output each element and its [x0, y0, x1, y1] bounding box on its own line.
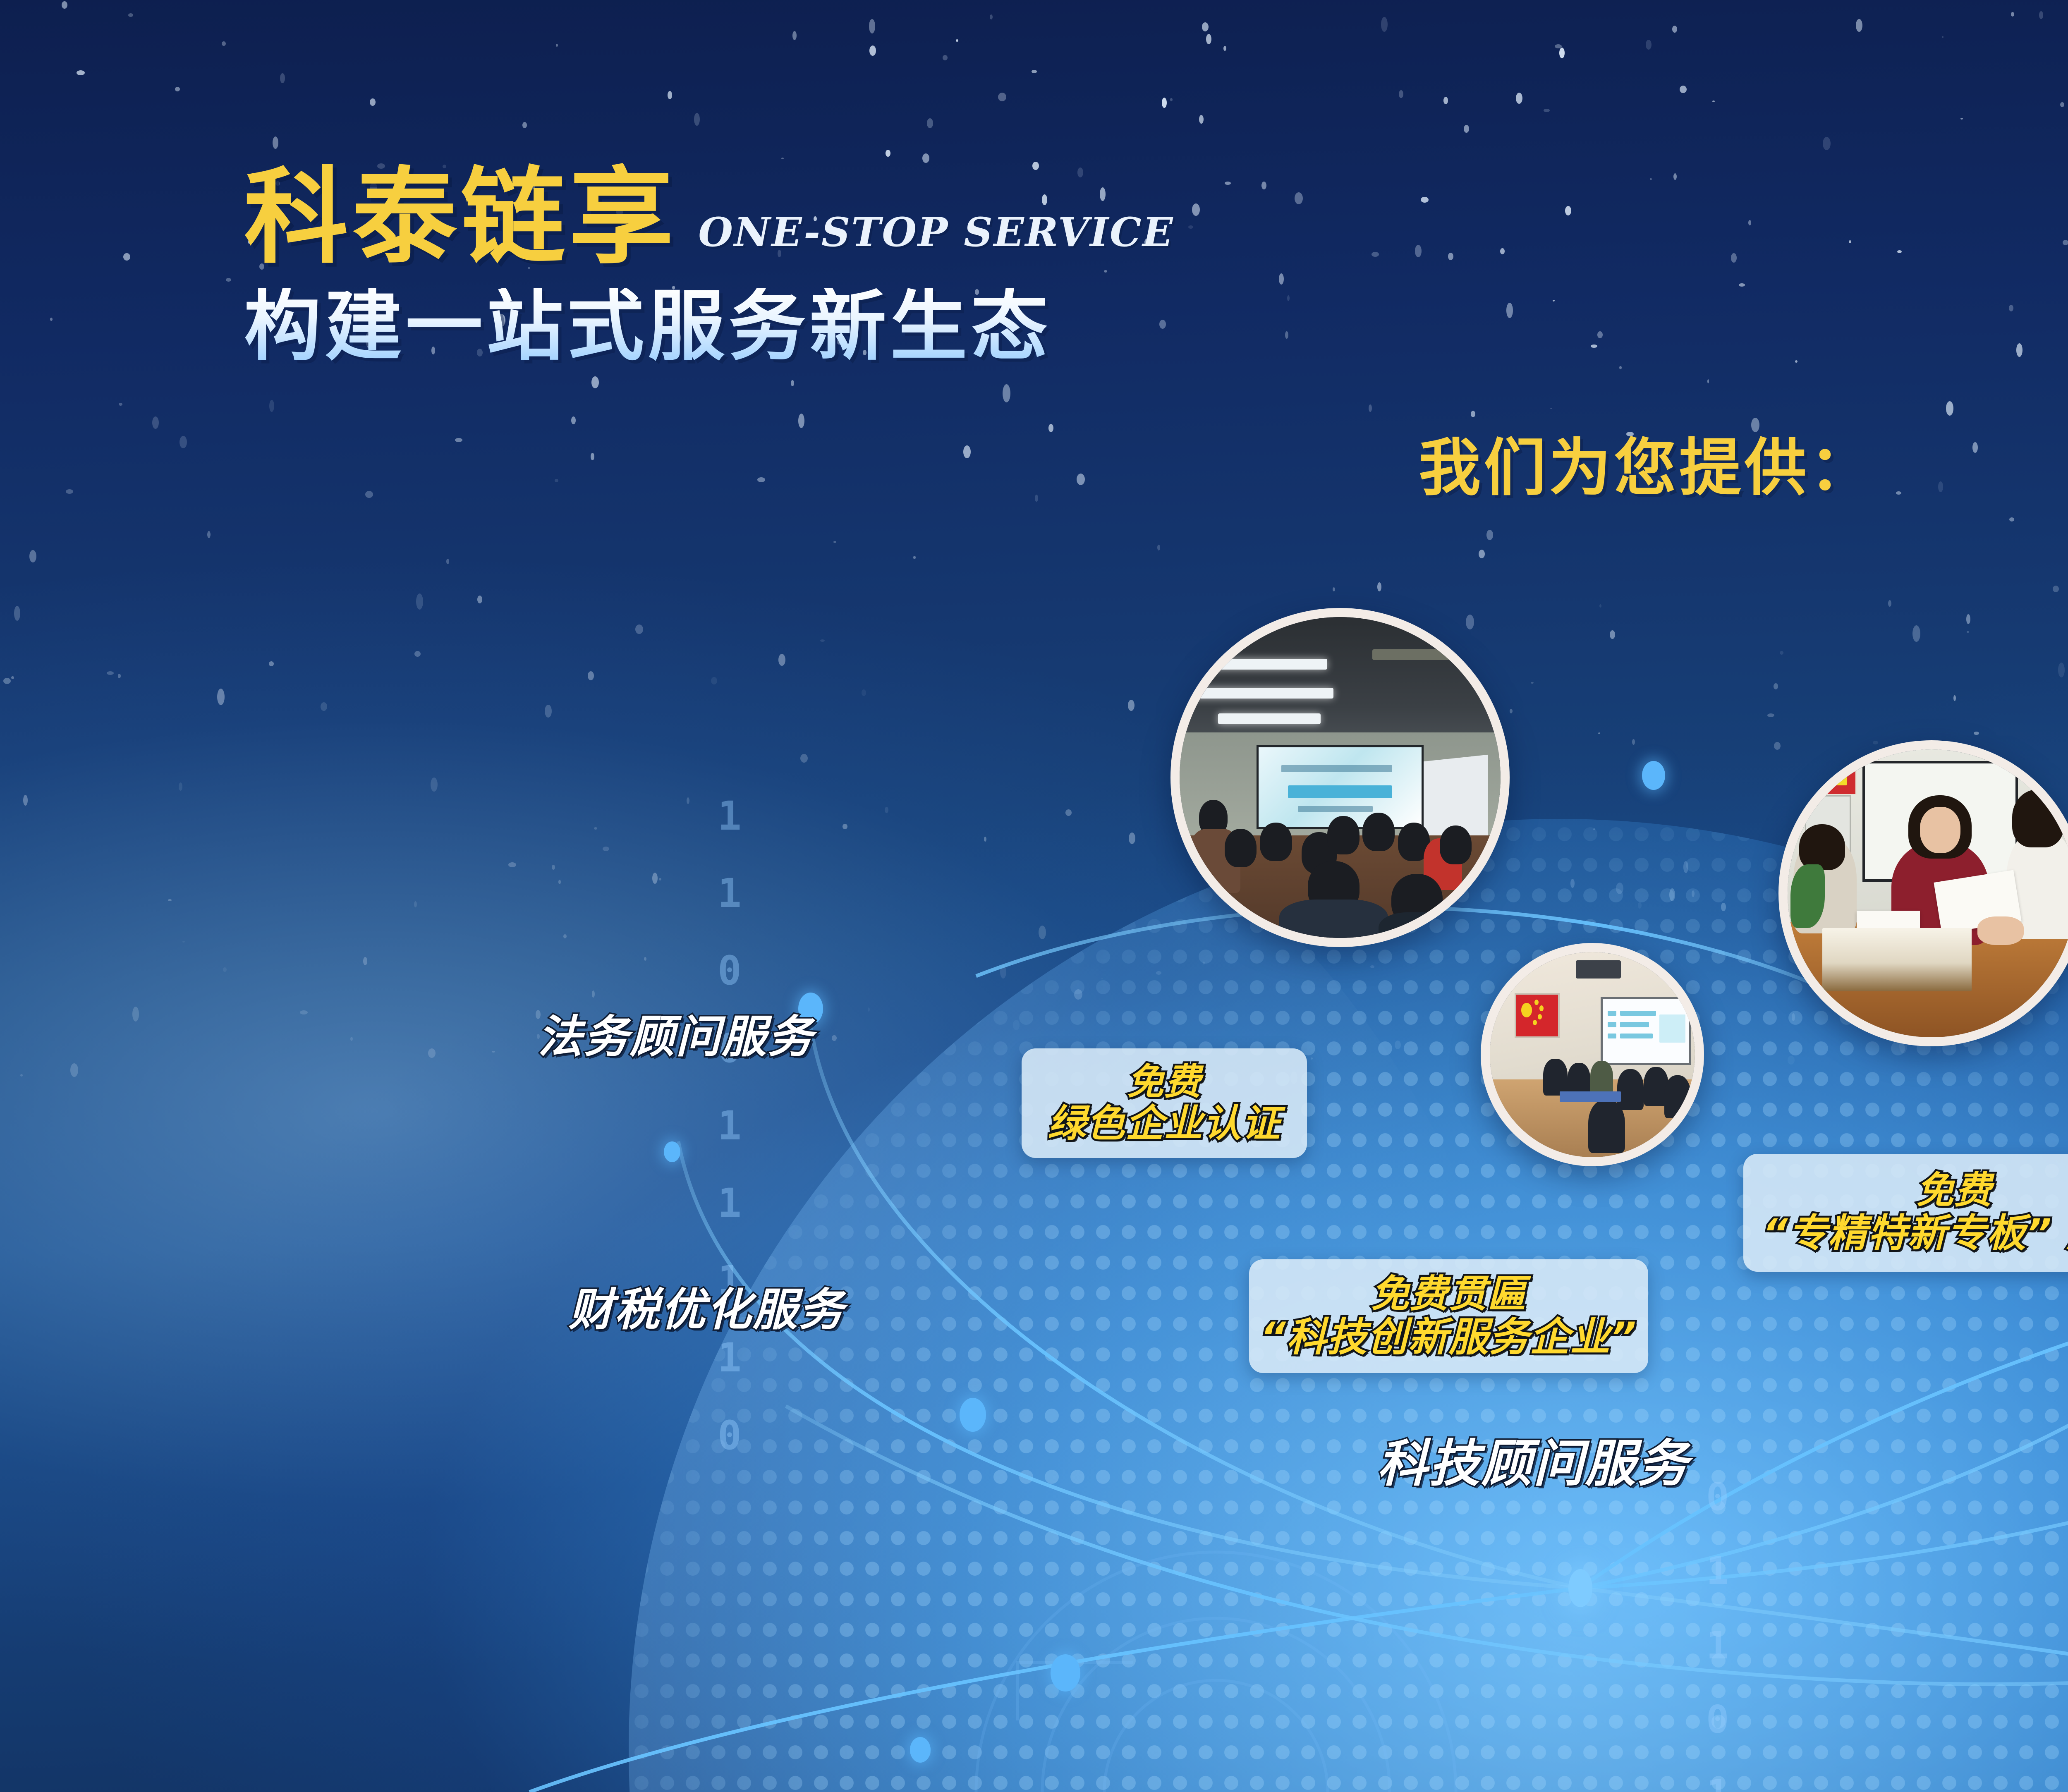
badge-green-enterprise-certification[interactable]: 免费 绿色企业认证: [1022, 1048, 1307, 1158]
badge-line-1: 免费: [1127, 1062, 1202, 1103]
network-hub-node: [1568, 1569, 1592, 1607]
photo-office-document-consultation: [1778, 740, 2068, 1046]
badge-line-2: “专精特新专板” 服务: [1763, 1212, 2068, 1255]
binary-column-center: 0 1 1 0 1 0 1 1: [1706, 1460, 1730, 1792]
service-label-tech-advisory[interactable]: 科技顾问服务: [1377, 1423, 1689, 1496]
photo-government-meeting-room: [1481, 943, 1704, 1166]
badge-line-1: 免费贯匾: [1371, 1273, 1526, 1315]
badge-line-1: 免费: [1916, 1170, 1992, 1212]
badge-line-2: “科技创新服务企业”: [1260, 1315, 1637, 1360]
brand-title: 科泰链享: [244, 165, 677, 270]
network-node: [1642, 761, 1665, 790]
badge-line-2: 绿色企业认证: [1048, 1102, 1281, 1145]
service-label-legal-advisory[interactable]: 法务顾问服务: [538, 1001, 814, 1065]
network-node: [664, 1141, 680, 1162]
network-node: [910, 1737, 931, 1763]
binary-column-left: 1 1 0 0 1 1 1 1 0: [718, 778, 742, 1474]
badge-specialized-new-board-service[interactable]: 免费 “专精特新专板” 服务: [1743, 1154, 2068, 1272]
brand-subtitle-en: ONE-STOP SERVICE: [698, 209, 1174, 270]
photo-seminar-training-room: [1170, 608, 1510, 947]
network-node: [960, 1398, 986, 1432]
banner-canvas: 1 1 0 0 1 1 1 1 0 1 1 0 0 0 1 1 0 0 1 1 …: [0, 0, 2068, 1792]
tagline: 构建一站式服务新生态: [244, 288, 1174, 365]
service-label-tax-optimization[interactable]: 财税优化服务: [569, 1274, 845, 1338]
badge-tech-innovation-service-enterprise[interactable]: 免费贯匾 “科技创新服务企业”: [1249, 1259, 1648, 1373]
headline-block: 科泰链享 ONE-STOP SERVICE 构建一站式服务新生态: [244, 165, 1174, 365]
network-node: [1051, 1654, 1080, 1692]
offer-title: 我们为您提供：: [1419, 418, 1875, 507]
